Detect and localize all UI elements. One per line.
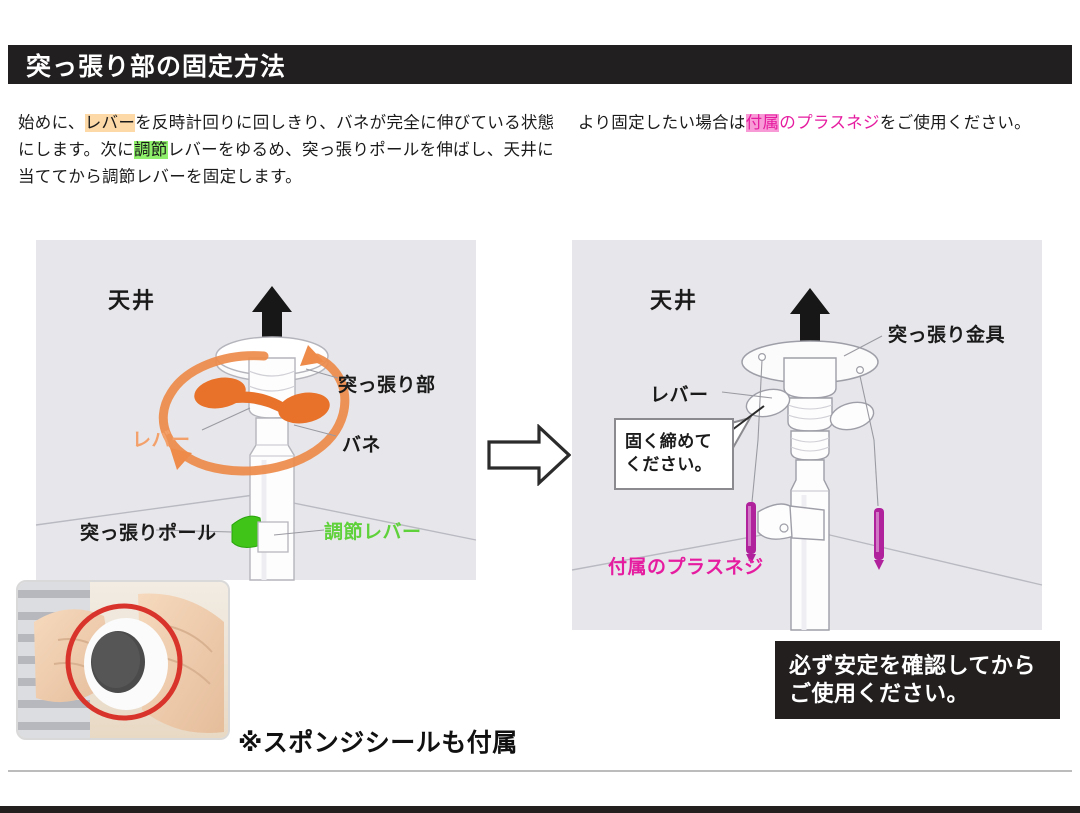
label-plus-screw: 付属のプラスネジ [608, 552, 764, 579]
photo-artwork [18, 582, 228, 738]
intro-right-seg1: より固定したい場合は [578, 114, 746, 132]
intro-right-seg2: のプラスネジ [779, 114, 879, 132]
photo-caption: ※スポンジシールも付属 [238, 723, 518, 759]
header-band: 突っ張り部の固定方法 [8, 45, 1072, 84]
warning-line1: 必ず安定を確認してから [789, 652, 1060, 680]
speech-bubble-line1: 固く締めて [625, 431, 732, 454]
intro-left-highlight-adjust: 調節 [134, 141, 168, 159]
screw-hole-right [857, 367, 864, 374]
pole-cap [84, 618, 168, 710]
label-tension-pole: 突っ張りポール [80, 518, 217, 545]
right-transition-arrow-icon [487, 424, 571, 486]
panel-left-artwork: 天井 [36, 240, 476, 580]
speech-bubble-line2: ください。 [625, 454, 732, 477]
up-arrow-icon-right [790, 288, 830, 346]
plus-screw-right-icon [874, 508, 884, 570]
label-adjust-lever: 調節レバー [324, 517, 422, 544]
page-left-margin [0, 0, 6, 813]
panel-right-artwork: 天井 [572, 240, 1042, 630]
speech-bubble-tighten: 固く締めて ください。 [614, 418, 734, 490]
ceiling-label-left: 天井 [108, 288, 156, 313]
intro-right-seg3: をご使用ください。 [880, 114, 1031, 132]
up-arrow-icon [252, 286, 292, 345]
bottom-band [0, 806, 1080, 813]
adjust-lever-white [758, 504, 824, 540]
diagram-panel-left: 天井 [36, 240, 476, 580]
label-lever-left: レバー [132, 425, 191, 452]
label-bracket: 突っ張り金具 [888, 320, 1005, 347]
intro-right-highlight-attached: 付属 [746, 114, 780, 132]
tension-pole-shaft-right [791, 460, 829, 630]
intro-left-highlight-lever: レバー [85, 114, 135, 132]
intro-paragraph-left: 始めに、レバーを反時計回りに回しきり、バネが完全に伸びている状態にします。次に調… [18, 110, 558, 192]
warning-box: 必ず安定を確認してから ご使用ください。 [775, 641, 1060, 719]
ceiling-label-right: 天井 [650, 288, 698, 313]
tension-pole-shaft [250, 418, 294, 580]
adjust-collar [258, 522, 288, 552]
sponge-seal-photo [16, 580, 230, 740]
screw-hole-left [759, 354, 766, 361]
label-spring: バネ [342, 430, 381, 457]
page-title: 突っ張り部の固定方法 [8, 47, 286, 83]
page-root: 突っ張り部の固定方法 始めに、レバーを反時計回りに回しきり、バネが完全に伸びてい… [0, 0, 1080, 813]
intro-paragraph-right: より固定したい場合は付属のプラスネジをご使用ください。 [578, 110, 1070, 137]
diagram-panel-right: 天井 [572, 240, 1042, 630]
intro-left-seg1: 始めに、 [18, 114, 85, 132]
bottom-divider [8, 770, 1072, 772]
label-lever-right: レバー [650, 380, 709, 407]
warning-line2: ご使用ください。 [789, 680, 1060, 708]
label-tension-part: 突っ張り部 [338, 370, 436, 397]
